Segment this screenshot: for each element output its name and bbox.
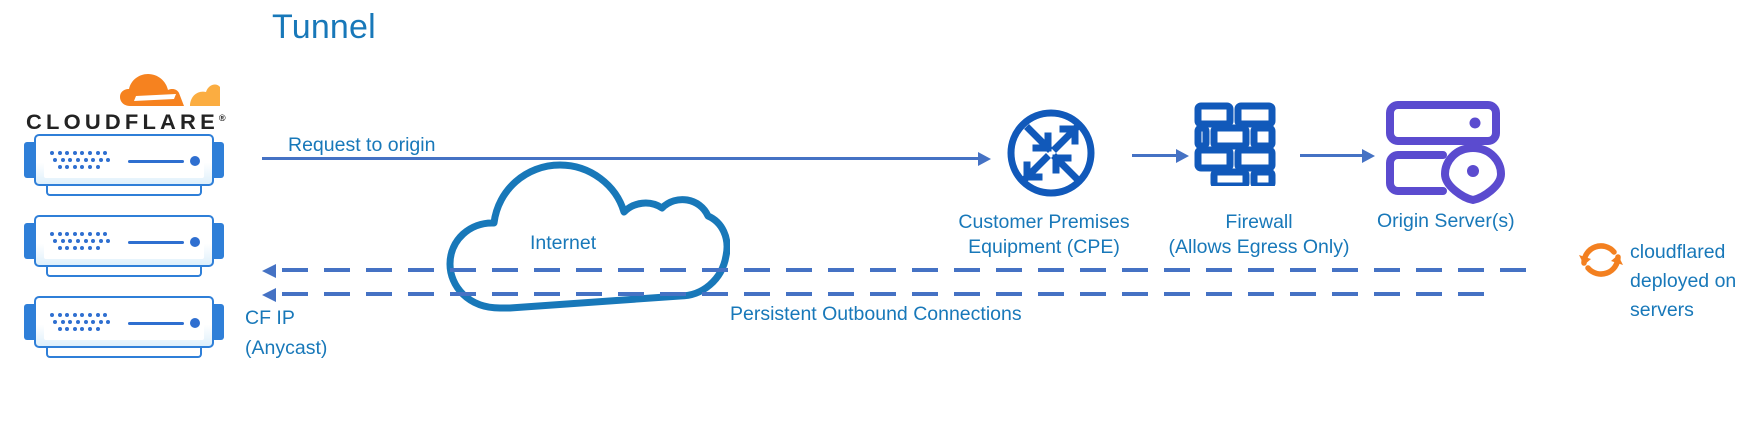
cf-ip-label-line1: CF IP (245, 303, 327, 333)
persistent-connection-line-2 (282, 292, 1500, 296)
cloudflared-label-line3: servers (1630, 296, 1736, 325)
firewall-label: Firewall (Allows Egress Only) (1140, 210, 1378, 260)
server-vents-icon (50, 151, 112, 171)
request-to-origin-label: Request to origin (288, 133, 435, 158)
cloudflare-cloud-logo-icon (112, 68, 222, 112)
cloudflared-label-line2: deployed on (1630, 267, 1736, 296)
internet-label: Internet (530, 232, 596, 255)
registered-mark: ® (219, 113, 226, 123)
cpe-label: Customer Premises Equipment (CPE) (948, 210, 1140, 260)
wordmark-text: CLOUDFLARE (26, 110, 219, 134)
request-to-origin-line (262, 157, 980, 160)
page-title: Tunnel (272, 8, 376, 47)
server-led-icon (190, 318, 200, 328)
origin-server-pin-icon (1385, 100, 1513, 204)
cf-ip-label-line2: (Anycast) (245, 333, 327, 363)
rack-server-3 (24, 296, 224, 360)
cloudflare-wordmark: CLOUDFLARE® (26, 110, 226, 135)
origin-server-label: Origin Server(s) (1377, 209, 1515, 234)
firewall-label-line1: Firewall (1140, 210, 1378, 235)
firewall-to-origin-line (1300, 154, 1364, 157)
server-base (46, 186, 202, 196)
brick-wall-icon (1192, 100, 1278, 186)
server-slot (128, 241, 184, 244)
server-led-icon (190, 156, 200, 166)
server-slot (128, 322, 184, 325)
cloudflared-label: cloudflared deployed on servers (1630, 238, 1736, 325)
cloudflare-logo: CLOUDFLARE® (26, 72, 226, 134)
cloudflared-label-line1: cloudflared (1630, 238, 1736, 267)
firewall-label-line2: (Allows Egress Only) (1140, 235, 1378, 260)
rack-server-2 (24, 215, 224, 279)
cpe-label-line2: Equipment (CPE) (948, 235, 1140, 260)
persistent-connection-line-1 (282, 268, 1530, 272)
cpe-to-firewall-arrowhead-icon (1176, 149, 1189, 163)
server-vents-icon (50, 313, 112, 333)
persistent-connections-label: Persistent Outbound Connections (730, 302, 1022, 327)
server-base (46, 267, 202, 277)
server-vents-icon (50, 232, 112, 252)
cpe-label-line1: Customer Premises (948, 210, 1140, 235)
request-to-origin-arrowhead-icon (978, 152, 991, 166)
tunnel-diagram: Tunnel CLOUDFLARE® (0, 0, 1754, 422)
cf-ip-label: CF IP (Anycast) (245, 303, 327, 363)
server-led-icon (190, 237, 200, 247)
server-base (46, 348, 202, 358)
persistent-connection-arrowhead-2-icon (262, 288, 276, 302)
persistent-connection-arrowhead-1-icon (262, 264, 276, 278)
sync-arrows-icon (1576, 237, 1626, 283)
cpe-to-firewall-line (1132, 154, 1178, 157)
server-slot (128, 160, 184, 163)
rack-server-1 (24, 134, 224, 198)
four-arrows-circle-icon (1005, 107, 1097, 199)
firewall-to-origin-arrowhead-icon (1362, 149, 1375, 163)
